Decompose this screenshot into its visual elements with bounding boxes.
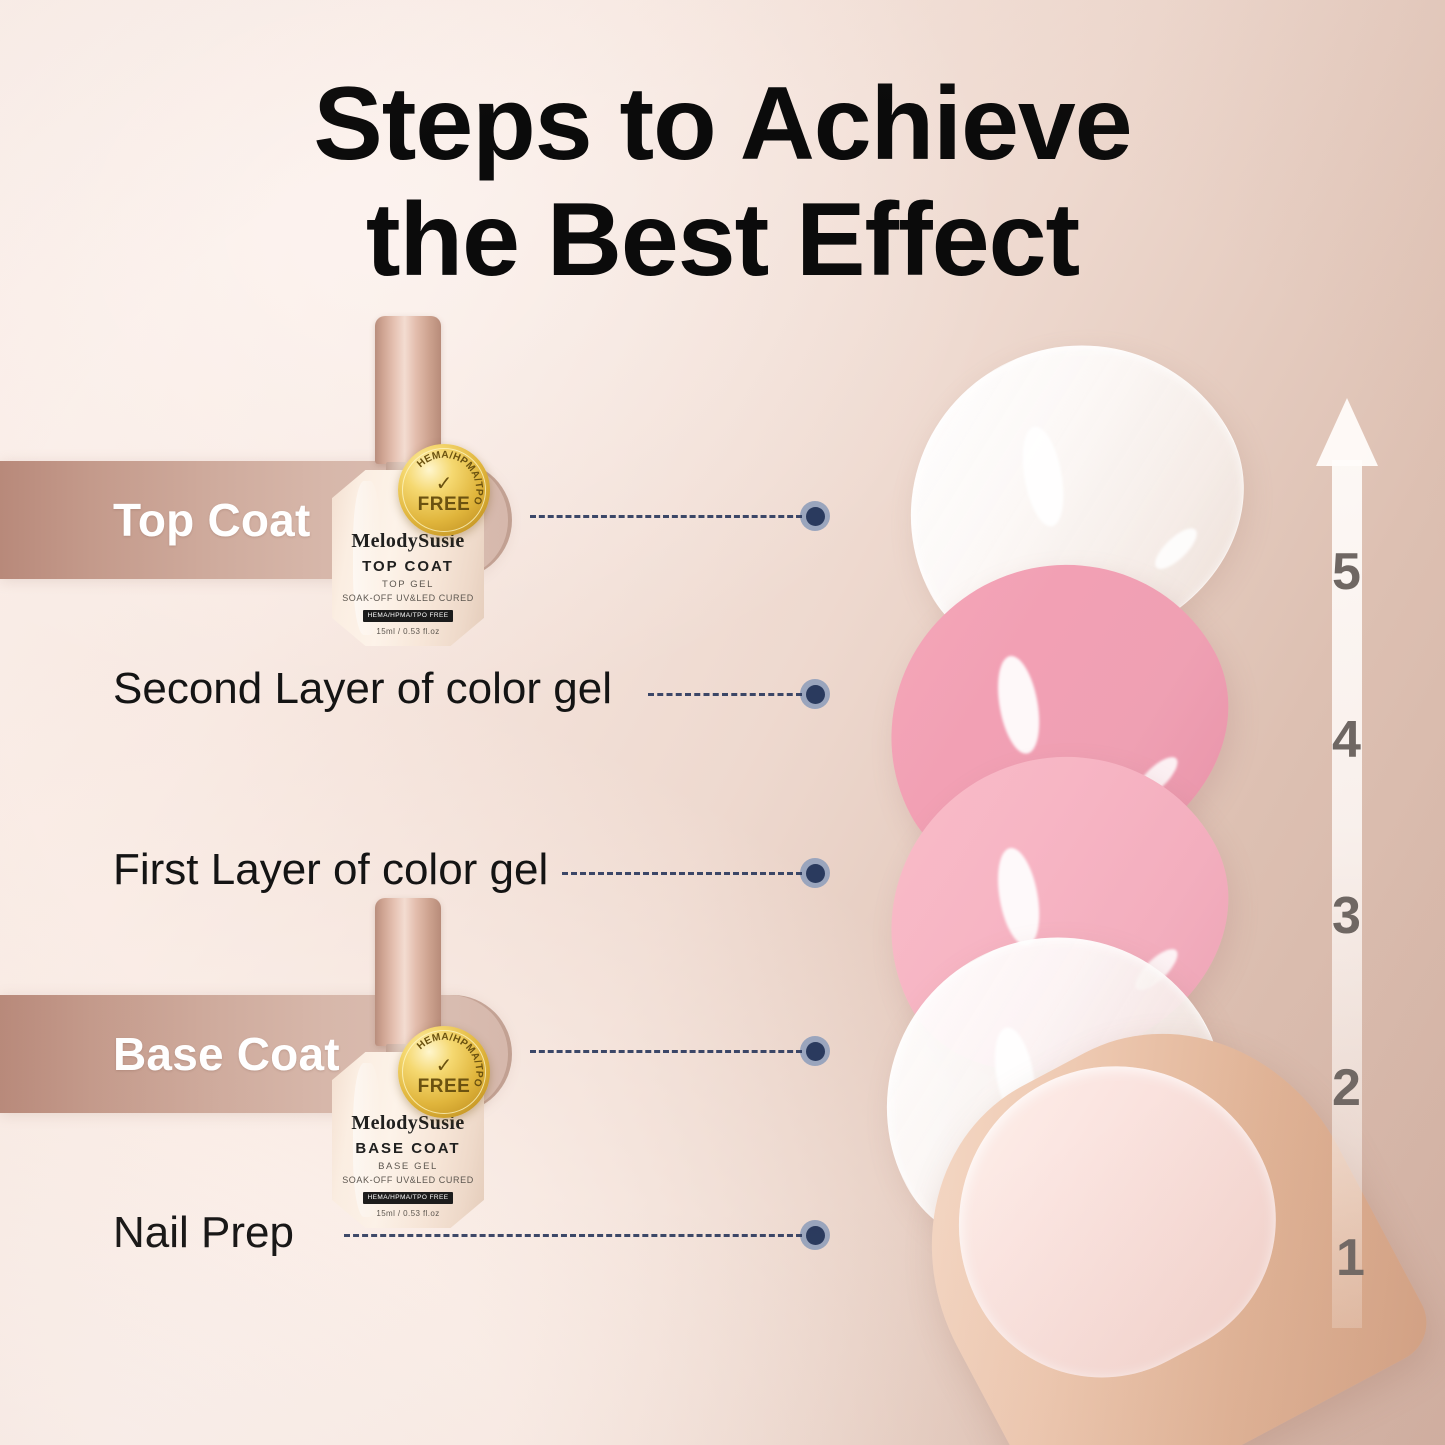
bottle-product-sub: TOP GEL bbox=[332, 579, 484, 590]
check-icon: ✓ bbox=[436, 1056, 453, 1076]
connector-top-coat bbox=[530, 505, 830, 527]
badge-free-word: FREE bbox=[418, 495, 471, 514]
check-icon: ✓ bbox=[436, 474, 453, 494]
connector-dot bbox=[800, 1036, 830, 1066]
nail-layer-stack bbox=[860, 330, 1300, 1445]
step-order-arrow-icon bbox=[1316, 398, 1378, 1328]
connector-dot bbox=[800, 501, 830, 531]
connector-line bbox=[562, 872, 802, 875]
bottle-product-name: TOP COAT bbox=[332, 558, 484, 576]
badge-free-word: FREE bbox=[418, 1077, 471, 1096]
poster-canvas: Steps to Achieve the Best Effect Top Coa… bbox=[0, 0, 1445, 1445]
step-label-base-coat: Base Coat bbox=[0, 1027, 340, 1081]
page-title-line-2: the Best Effect bbox=[0, 182, 1445, 298]
nail-shine-small bbox=[1149, 523, 1202, 576]
nail-shine bbox=[1016, 423, 1070, 529]
bottle-volume: 15ml / 0.53 fl.oz bbox=[332, 627, 484, 636]
bottle-label: MelodySusie BASE COAT BASE GEL SOAK-OFF … bbox=[332, 1112, 484, 1218]
page-title: Steps to Achieve the Best Effect bbox=[0, 66, 1445, 299]
hema-free-badge: HEMA/HPMA/TPO ✓ FREE bbox=[398, 1026, 490, 1118]
bottle-cap bbox=[375, 898, 441, 1046]
connector-dot bbox=[800, 679, 830, 709]
badge-core: ✓ FREE bbox=[418, 1056, 471, 1096]
bottle-product-name: BASE COAT bbox=[332, 1140, 484, 1158]
connector-dot bbox=[800, 1220, 830, 1250]
bottle-cure-text: SOAK-OFF UV&LED CURED bbox=[332, 1175, 484, 1186]
hema-free-badge: HEMA/HPMA/TPO ✓ FREE bbox=[398, 444, 490, 536]
nail-shine bbox=[991, 845, 1046, 949]
step-label-second-layer: Second Layer of color gel bbox=[113, 664, 612, 714]
bottle-free-tag: HEMA/HPMA/TPO FREE bbox=[363, 1192, 454, 1204]
bottle-label: MelodySusie TOP COAT TOP GEL SOAK-OFF UV… bbox=[332, 530, 484, 636]
arrow-head bbox=[1316, 398, 1378, 466]
scale-number-3: 3 bbox=[1332, 886, 1361, 946]
bottle-cure-text: SOAK-OFF UV&LED CURED bbox=[332, 593, 484, 604]
page-title-line-1: Steps to Achieve bbox=[0, 66, 1445, 182]
scale-number-1: 1 bbox=[1336, 1228, 1365, 1288]
connector-first-layer bbox=[562, 862, 830, 884]
connector-dot bbox=[800, 858, 830, 888]
connector-line bbox=[530, 1050, 802, 1053]
nail-shine bbox=[991, 653, 1046, 757]
scale-number-2: 2 bbox=[1332, 1058, 1361, 1118]
connector-line bbox=[530, 515, 802, 518]
scale-number-5: 5 bbox=[1332, 542, 1361, 602]
connector-base-coat bbox=[530, 1040, 830, 1062]
bottle-free-tag: HEMA/HPMA/TPO FREE bbox=[363, 610, 454, 622]
scale-number-4: 4 bbox=[1332, 710, 1361, 770]
step-label-top-coat: Top Coat bbox=[0, 493, 310, 547]
bottle-volume: 15ml / 0.53 fl.oz bbox=[332, 1209, 484, 1218]
step-label-nail-prep: Nail Prep bbox=[113, 1208, 294, 1258]
bottle-product-sub: BASE GEL bbox=[332, 1161, 484, 1172]
bottle-cap bbox=[375, 316, 441, 464]
connector-second-layer bbox=[648, 683, 830, 705]
step-label-first-layer: First Layer of color gel bbox=[113, 845, 548, 895]
connector-line bbox=[344, 1234, 802, 1237]
badge-core: ✓ FREE bbox=[418, 474, 471, 514]
connector-nail-prep bbox=[344, 1224, 830, 1246]
connector-line bbox=[648, 693, 802, 696]
